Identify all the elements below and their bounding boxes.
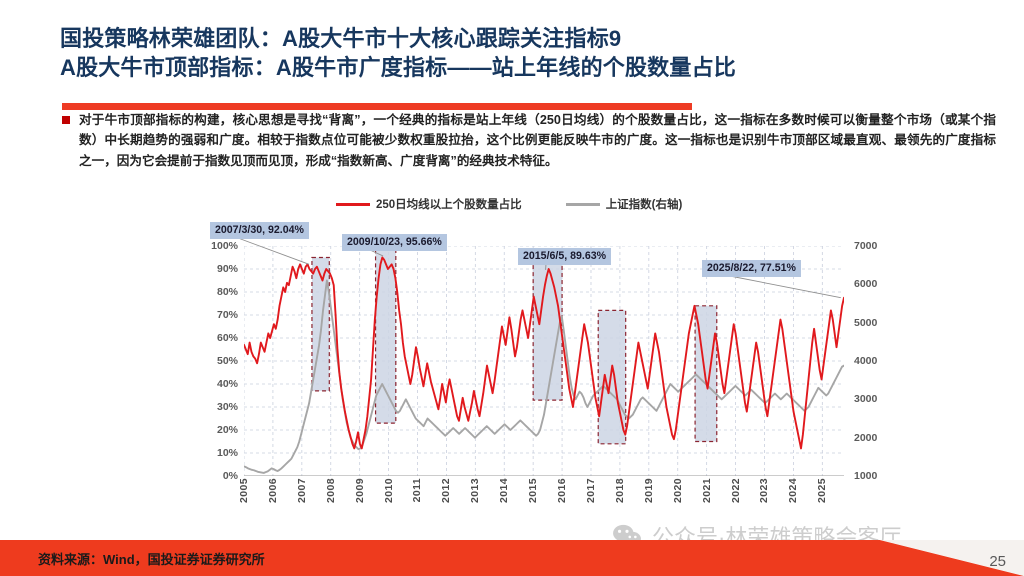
y-right-tick: 7000 [854,240,877,252]
x-tick: 2006 [267,478,279,503]
chart-annotation-label: 2015/6/5, 89.63% [518,248,611,265]
slide-title: 国投策略林荣雄团队：A股大牛市十大核心跟踪关注指标9 A股大牛市顶部指标：A股牛… [60,24,990,82]
x-tick: 2020 [672,478,684,503]
x-tick: 2014 [498,478,510,503]
y-axis-left-labels: 0%10%20%30%40%50%60%70%80%90%100% [196,246,240,476]
chart-annotation-label: 2025/8/22, 77.51% [702,260,801,277]
x-tick: 2023 [758,478,770,503]
x-tick: 2016 [556,478,568,503]
legend-item-red: 250日均线以上个股数量占比 [336,196,522,212]
title-line-2: A股大牛市顶部指标：A股牛市广度指标——站上年线的个股数量占比 [60,53,990,82]
x-tick: 2017 [585,478,597,503]
y-right-tick: 2000 [854,432,877,444]
page-number: 25 [989,553,1006,570]
bullet-paragraph-text: 对于牛市顶部指标的构建，核心思想是寻找“背离”，一个经典的指标是站上年线（250… [79,110,996,171]
legend-swatch-red-icon [336,203,370,206]
bullet-square-icon [62,116,70,124]
chart-annotation-label: 2009/10/23, 95.66% [342,234,447,251]
y-right-tick: 1000 [854,470,877,482]
chart-legend: 250日均线以上个股数量占比 上证指数(右轴) [336,196,682,212]
y-right-tick: 4000 [854,355,877,367]
slide-footer: 资料来源：Wind，国投证券证券研究所 [0,540,1024,576]
x-tick: 2011 [411,478,423,502]
y-left-tick: 80% [217,286,238,298]
legend-swatch-gray-icon [566,203,600,206]
y-left-tick: 100% [211,240,238,252]
y-right-tick: 3000 [854,393,877,405]
x-tick: 2022 [730,478,742,503]
x-tick: 2012 [440,478,452,503]
legend-item-gray: 上证指数(右轴) [566,196,683,212]
y-left-tick: 20% [217,424,238,436]
slide-root: 国投策略林荣雄团队：A股大牛市十大核心跟踪关注指标9 A股大牛市顶部指标：A股牛… [0,0,1024,576]
x-tick: 2009 [354,478,366,503]
y-left-tick: 30% [217,401,238,413]
y-right-tick: 6000 [854,278,877,290]
x-tick: 2018 [614,478,626,503]
y-axis-right-labels: 1000200030004000500060007000 [850,246,902,476]
y-left-tick: 10% [217,447,238,459]
x-tick: 2007 [296,478,308,503]
x-tick: 2010 [383,478,395,503]
title-line-1: 国投策略林荣雄团队：A股大牛市十大核心跟踪关注指标9 [60,24,990,53]
chart: 250日均线以上个股数量占比 上证指数(右轴) 0%10%20%30%40%50… [196,190,896,520]
y-left-tick: 90% [217,263,238,275]
bullet-paragraph: 对于牛市顶部指标的构建，核心思想是寻找“背离”，一个经典的指标是站上年线（250… [62,110,996,171]
x-tick: 2021 [701,478,713,503]
chart-plot-area [244,246,844,476]
legend-label-gray: 上证指数(右轴) [606,196,683,212]
y-left-tick: 60% [217,332,238,344]
x-tick: 2024 [787,478,799,503]
x-tick: 2025 [816,478,828,503]
y-left-tick: 40% [217,378,238,390]
legend-label-red: 250日均线以上个股数量占比 [376,196,522,212]
y-right-tick: 5000 [854,317,877,329]
y-left-tick: 50% [217,355,238,367]
chart-svg [244,246,844,476]
x-tick: 2005 [238,478,250,503]
footer-source-text: 资料来源：Wind，国投证券证券研究所 [38,549,265,568]
x-axis-labels: 2005200620072008200920102011201220132014… [244,478,844,526]
title-underline [62,103,692,110]
y-left-tick: 70% [217,309,238,321]
x-tick: 2008 [325,478,337,503]
x-tick: 2015 [527,478,539,503]
chart-annotation-label: 2007/3/30, 92.04% [210,222,309,239]
x-tick: 2013 [469,478,481,503]
x-tick: 2019 [643,478,655,503]
y-left-tick: 0% [223,470,238,482]
